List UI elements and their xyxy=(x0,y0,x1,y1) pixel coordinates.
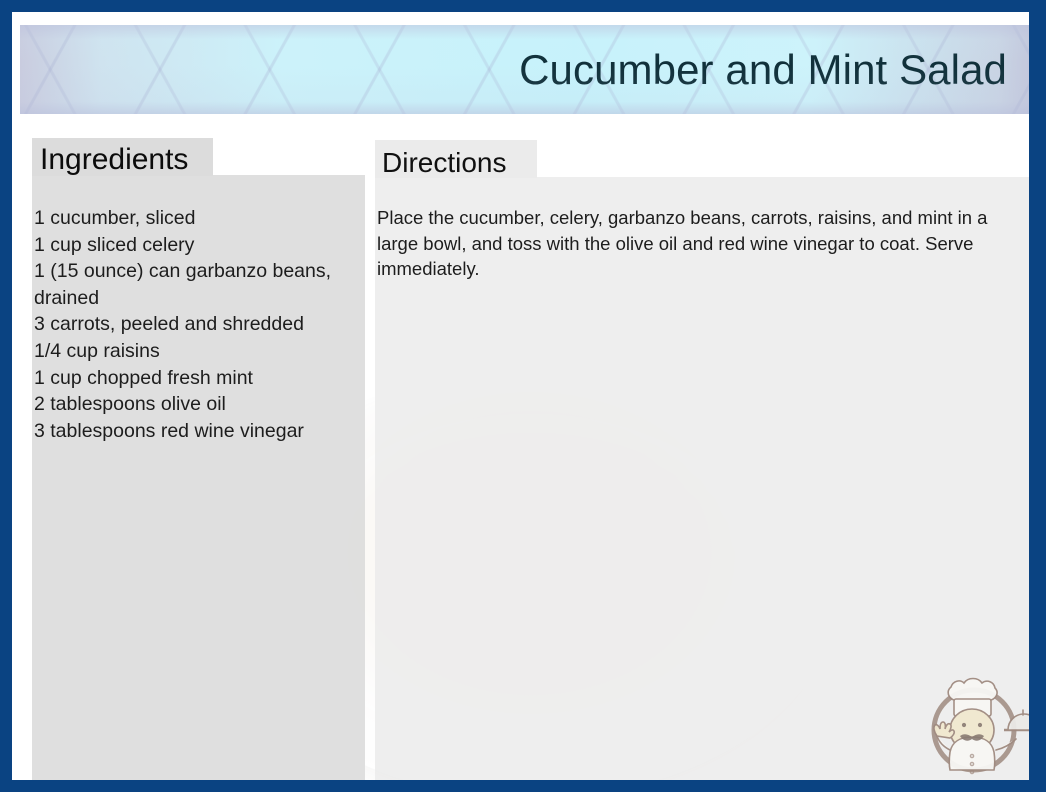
directions-heading: Directions xyxy=(382,146,506,179)
directions-tab: Directions xyxy=(375,140,537,178)
list-item: 1 cucumber, sliced xyxy=(34,205,364,232)
list-item: 3 carrots, peeled and shredded xyxy=(34,311,364,338)
list-item: 2 tablespoons olive oil xyxy=(34,391,364,418)
ingredients-heading: Ingredients xyxy=(40,143,188,177)
slide-canvas: Cucumber and Mint Salad Ingredients 1 cu… xyxy=(12,12,1029,780)
title-banner: Cucumber and Mint Salad xyxy=(20,25,1029,114)
ingredients-tab: Ingredients xyxy=(32,138,213,176)
list-item: 1 cup chopped fresh mint xyxy=(34,365,364,392)
recipe-slide: Cucumber and Mint Salad Ingredients 1 cu… xyxy=(0,0,1046,792)
list-item: 3 tablespoons red wine vinegar xyxy=(34,418,364,445)
ingredients-list: 1 cucumber, sliced 1 cup sliced celery 1… xyxy=(34,205,364,444)
page-title: Cucumber and Mint Salad xyxy=(519,49,1007,91)
list-item: 1 cup sliced celery xyxy=(34,232,364,259)
list-item: 1 (15 ounce) can garbanzo beans, drained xyxy=(34,258,364,311)
directions-text: Place the cucumber, celery, garbanzo bea… xyxy=(377,205,1027,282)
list-item: 1/4 cup raisins xyxy=(34,338,364,365)
